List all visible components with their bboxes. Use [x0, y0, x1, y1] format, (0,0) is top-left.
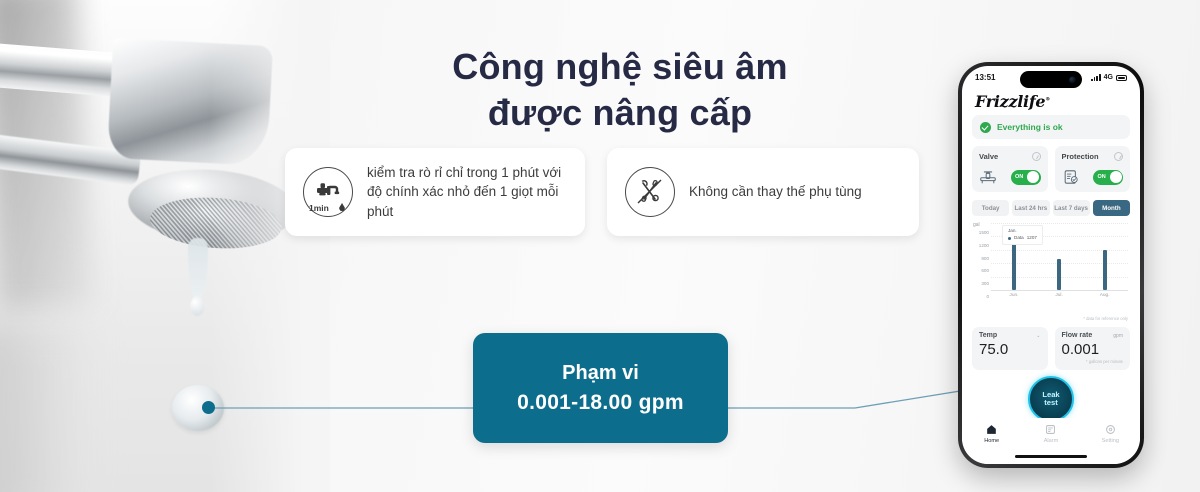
valve-toggle-label: ON: [1015, 174, 1023, 180]
app-content: Everything is ok Valve: [962, 113, 1140, 422]
nav-item-alarm-label: Alarm: [1044, 438, 1059, 444]
page-title: Công nghệ siêu âm được nâng cấp: [360, 44, 880, 136]
feature-card-no-parts: Không cần thay thế phụ tùng: [607, 148, 919, 236]
ytick: 300: [972, 281, 989, 286]
network-label: 4G: [1104, 74, 1113, 81]
metric-flowrate-note: * gallons per minute: [1062, 359, 1124, 364]
control-card-protection-header: Protection: [1062, 152, 1124, 161]
valve-icon: [979, 169, 997, 185]
chart-legend: Jan. Data 1207: [1002, 225, 1043, 245]
control-card-valve-body: ON: [979, 169, 1041, 185]
control-card-protection-body: ON: [1062, 169, 1124, 185]
connector-node-sensor: [202, 401, 215, 414]
control-card-valve-header: Valve: [979, 152, 1041, 161]
droplet-icon: [339, 203, 345, 211]
status-bar-right: 4G: [1091, 74, 1127, 81]
chevron-down-icon[interactable]: ⌄: [1036, 333, 1040, 339]
status-banner-text: Everything is ok: [997, 122, 1063, 132]
status-banner: Everything is ok: [972, 115, 1130, 139]
ytick: 1200: [972, 243, 989, 248]
metric-temp-value: 75.0: [979, 341, 1041, 358]
feature-cards: 1min kiểm tra rò rỉ chỉ trong 1 phút với…: [285, 148, 919, 236]
app-logo: Frizzlife®: [962, 86, 1140, 113]
photo-fade-overlay: [210, 0, 330, 492]
chart-footnote: * data for reference only: [1083, 316, 1128, 321]
range-callout-title: Phạm vi: [562, 362, 639, 385]
protection-toggle-label: ON: [1098, 174, 1106, 180]
phone-screen: 13:51 4G Frizzlife® Everything is ok: [962, 66, 1140, 464]
nav-item-home-label: Home: [984, 438, 999, 444]
chart-y-axis: 1500 1200 900 600 300 0: [972, 230, 991, 299]
leak-test-area: Leak test: [972, 376, 1130, 422]
protection-icon: [1062, 169, 1080, 185]
water-droplet: [190, 296, 204, 316]
chart-x-axis: Jun. Jul. Aug.: [991, 293, 1128, 298]
tab-today[interactable]: Today: [972, 200, 1009, 216]
metric-card-temp-header: Temp ⌄: [979, 332, 1041, 339]
tab-month[interactable]: Month: [1093, 200, 1130, 216]
check-circle-icon: [980, 122, 991, 133]
metric-cards: Temp ⌄ 75.0 Flow rate gpm 0.001 * gallon…: [972, 327, 1130, 370]
faucet-photo: [0, 0, 330, 492]
xtick: Jul.: [1055, 293, 1062, 298]
setting-icon: [1105, 424, 1116, 435]
ytick: 0: [972, 294, 989, 299]
home-indicator: [1015, 455, 1087, 458]
chart-legend-value: 1207: [1027, 235, 1037, 242]
page-title-line1: Công nghệ siêu âm: [360, 44, 880, 90]
range-callout: Phạm vi 0.001-18.00 gpm: [473, 333, 728, 443]
metric-card-temp[interactable]: Temp ⌄ 75.0: [972, 327, 1048, 370]
xtick: Jun.: [1009, 293, 1018, 298]
metric-card-flowrate-header: Flow rate gpm: [1062, 332, 1124, 339]
metric-temp-label: Temp: [979, 332, 997, 339]
ytick: 1500: [972, 230, 989, 235]
no-tools-icon: [625, 167, 675, 217]
usage-chart: gal 1500 1200 900 600 300 0 Jan. Data: [972, 223, 1130, 315]
battery-icon: [1116, 75, 1127, 81]
metric-flowrate-value: 0.001: [1062, 341, 1124, 358]
chart-y-unit: gal: [973, 222, 980, 228]
ytick: 900: [972, 256, 989, 261]
chart-legend-row: Data 1207: [1008, 235, 1037, 242]
nav-item-setting[interactable]: Setting: [1081, 424, 1140, 444]
wall-shadow-lower: [0, 322, 90, 492]
front-camera-icon: [1069, 76, 1076, 83]
control-card-valve[interactable]: Valve ON: [972, 146, 1048, 192]
metric-flowrate-label: Flow rate: [1062, 332, 1093, 339]
metric-card-flowrate[interactable]: Flow rate gpm 0.001 * gallons per minute: [1055, 327, 1131, 370]
nav-item-home[interactable]: Home: [962, 424, 1021, 444]
info-icon[interactable]: [1114, 152, 1123, 161]
nav-item-alarm[interactable]: Alarm: [1021, 424, 1080, 444]
tab-last-7-days[interactable]: Last 7 days: [1053, 200, 1090, 216]
control-card-protection-label: Protection: [1062, 152, 1099, 161]
xtick: Aug.: [1100, 293, 1110, 298]
home-icon: [986, 424, 997, 435]
info-icon[interactable]: [1032, 152, 1041, 161]
feature-card-leak-check-text: kiểm tra rò rỉ chỉ trong 1 phút với độ c…: [367, 163, 567, 220]
control-card-valve-label: Valve: [979, 152, 998, 161]
leak-test-line2: test: [1044, 399, 1058, 407]
chart-legend-title: Jan.: [1008, 228, 1037, 235]
app-logo-text: Frizzlife: [975, 92, 1045, 111]
control-card-protection[interactable]: Protection ON: [1055, 146, 1131, 192]
alarm-icon: [1045, 424, 1056, 435]
protection-toggle[interactable]: ON: [1093, 170, 1123, 185]
status-bar-time: 13:51: [975, 73, 995, 82]
leak-test-button[interactable]: Leak test: [1028, 376, 1074, 422]
gridline: [991, 223, 1128, 224]
bottom-nav: Home Alarm Setting: [962, 418, 1140, 464]
trademark-mark: ®: [1045, 97, 1050, 103]
chart-bar: [1057, 259, 1061, 290]
feature-card-leak-check: 1min kiểm tra rò rỉ chỉ trong 1 phút với…: [285, 148, 585, 236]
chart-bar: [1103, 250, 1107, 290]
metric-flowrate-unit: gpm: [1113, 333, 1123, 339]
chart-legend-series: Data: [1014, 235, 1024, 242]
range-callout-value: 0.001-18.00 gpm: [517, 391, 684, 415]
period-tabs: Today Last 24 hrs Last 7 days Month: [972, 200, 1130, 216]
signal-icon: [1091, 74, 1100, 81]
tab-last-24-hrs[interactable]: Last 24 hrs: [1012, 200, 1049, 216]
promo-banner: Công nghệ siêu âm được nâng cấp 1min kiể…: [0, 0, 1200, 492]
valve-toggle[interactable]: ON: [1011, 170, 1041, 185]
leak-sensor-droplet: [172, 385, 224, 431]
phone-mockup: 13:51 4G Frizzlife® Everything is ok: [958, 62, 1144, 468]
faucet-icon-badge: 1min: [309, 203, 329, 213]
page-title-line2: được nâng cấp: [360, 90, 880, 136]
feature-card-no-parts-text: Không cần thay thế phụ tùng: [689, 182, 862, 201]
nav-item-setting-label: Setting: [1102, 438, 1119, 444]
control-cards: Valve ON: [972, 146, 1130, 192]
legend-marker-icon: [1008, 237, 1011, 240]
ytick: 600: [972, 268, 989, 273]
faucet-icon: 1min: [303, 167, 353, 217]
